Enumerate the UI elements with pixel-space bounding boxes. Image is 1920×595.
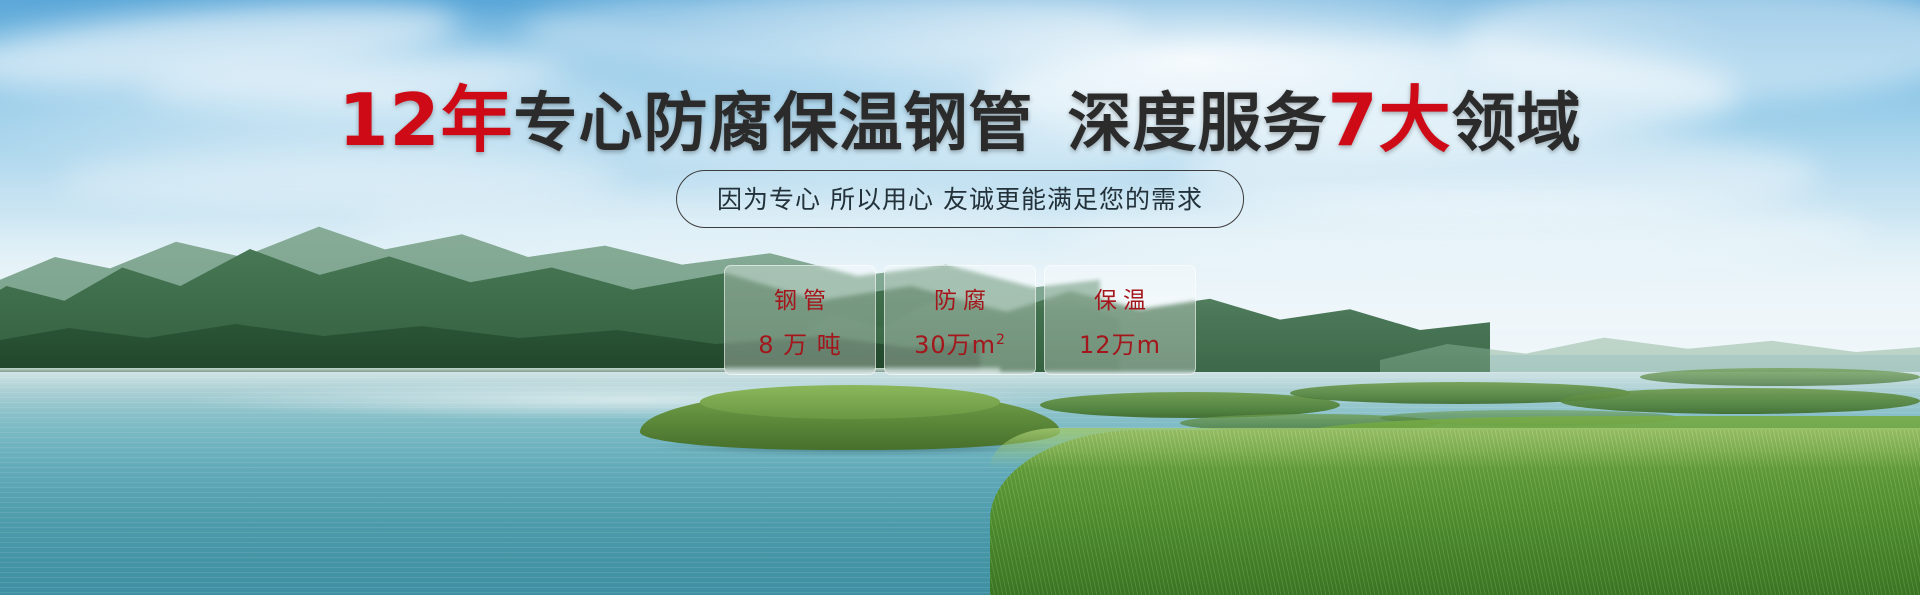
grass-texture <box>990 430 1920 595</box>
stat-card-value: 8 万 吨 <box>758 325 842 360</box>
grass-island-highlight <box>700 385 1000 419</box>
marsh-patch <box>1560 388 1920 414</box>
stat-card-value-main: 12万m <box>1079 331 1161 359</box>
stat-card-value: 12万m <box>1079 325 1161 360</box>
stat-card-steel-pipe[interactable]: 钢管 8 万 吨 <box>724 265 876 375</box>
stat-card-value-superscript: 2 <box>996 332 1006 348</box>
stat-card-group: 钢管 8 万 吨 防腐 30万m2 保温 12万m <box>724 265 1196 375</box>
stat-card-label: 保温 <box>1088 281 1152 315</box>
stat-card-insulation[interactable]: 保温 12万m <box>1044 265 1196 375</box>
stat-card-label: 防腐 <box>928 281 992 315</box>
headline-years-number: 12年 <box>338 78 513 162</box>
stat-card-value-main: 30万m <box>914 331 996 359</box>
subtitle-pill: 因为专心 所以用心 友诚更能满足您的需求 <box>676 170 1244 228</box>
headline-fields-number: 7大 <box>1328 78 1452 162</box>
stat-card-value: 30万m2 <box>914 325 1006 360</box>
headline-main-phrase: 专心防腐保温钢管 <box>514 87 1034 161</box>
stat-card-label: 钢管 <box>768 281 832 315</box>
stat-card-value-main: 8 万 吨 <box>758 331 842 359</box>
headline-service-phrase: 深度服务 <box>1068 87 1328 161</box>
hero-banner: 12年专心防腐保温钢管深度服务7大领域 因为专心 所以用心 友诚更能满足您的需求… <box>0 0 1920 595</box>
headline: 12年专心防腐保温钢管深度服务7大领域 <box>0 84 1920 156</box>
marsh-patch <box>1640 368 1920 386</box>
stat-card-anticorrosion[interactable]: 防腐 30万m2 <box>884 265 1036 375</box>
headline-fields-suffix: 领域 <box>1452 87 1582 161</box>
